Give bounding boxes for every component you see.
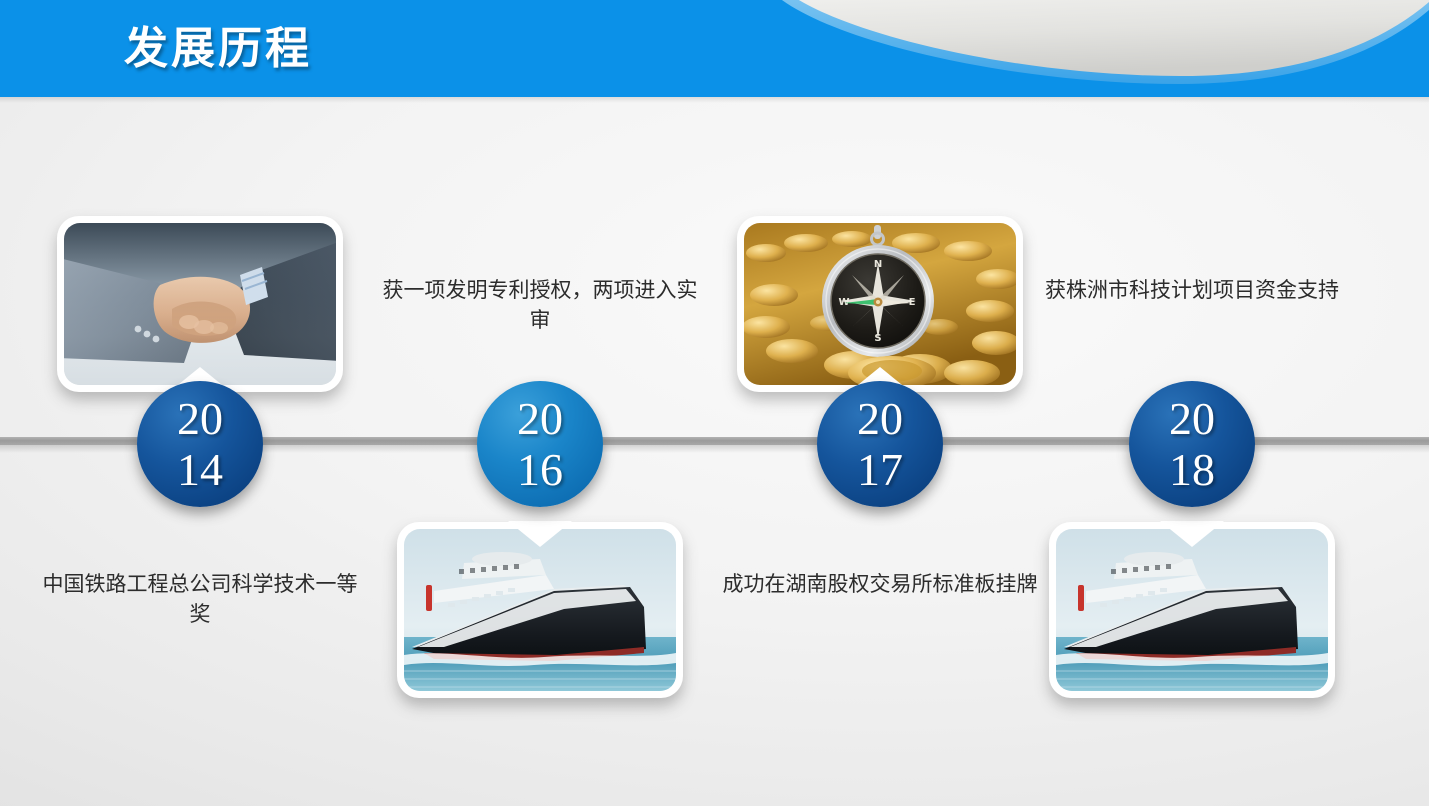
year-bottom: 18 [1169,447,1215,492]
year-top: 20 [1169,396,1215,441]
milestone-2018: 获株洲市科技计划项目资金支持 20 18 [1022,0,1362,806]
cruise-ship-photo-card-2016 [397,522,683,698]
year-badge-2014[interactable]: 20 14 [137,381,263,507]
milestone-caption-2017: 成功在湖南股权交易所标准板挂牌 [720,570,1040,600]
handshake-photo [64,223,336,385]
year-badge-2018[interactable]: 20 18 [1129,381,1255,507]
year-bottom: 14 [177,447,223,492]
cruise-ship-photo [1056,529,1328,691]
slide-canvas: 发展历程 [0,0,1429,806]
milestone-2017: N E S W [710,0,1050,806]
card-notch [508,521,572,547]
year-top: 20 [177,396,223,441]
handshake-photo-card [57,216,343,392]
cruise-ship-photo [404,529,676,691]
year-top: 20 [857,396,903,441]
year-badge-2016[interactable]: 20 16 [477,381,603,507]
year-badge-2017[interactable]: 20 17 [817,381,943,507]
year-bottom: 16 [517,447,563,492]
milestone-caption-2014: 中国铁路工程总公司科学技术一等奖 [40,570,360,630]
svg-text:E: E [909,297,916,308]
milestone-caption-2016: 获一项发明专利授权，两项进入实审 [380,276,700,336]
milestone-2014: 20 14 中国铁路工程总公司科学技术一等奖 [30,0,370,806]
year-top: 20 [517,396,563,441]
milestone-2016: 获一项发明专利授权，两项进入实审 20 16 [370,0,710,806]
card-notch [1160,521,1224,547]
compass-gold-coins-photo: N E S W [744,223,1016,385]
cruise-ship-photo-card-2018 [1049,522,1335,698]
milestone-caption-2018: 获株洲市科技计划项目资金支持 [1032,276,1352,306]
year-bottom: 17 [857,447,903,492]
compass-gold-coins-photo-card: N E S W [737,216,1023,392]
svg-text:W: W [838,297,849,308]
